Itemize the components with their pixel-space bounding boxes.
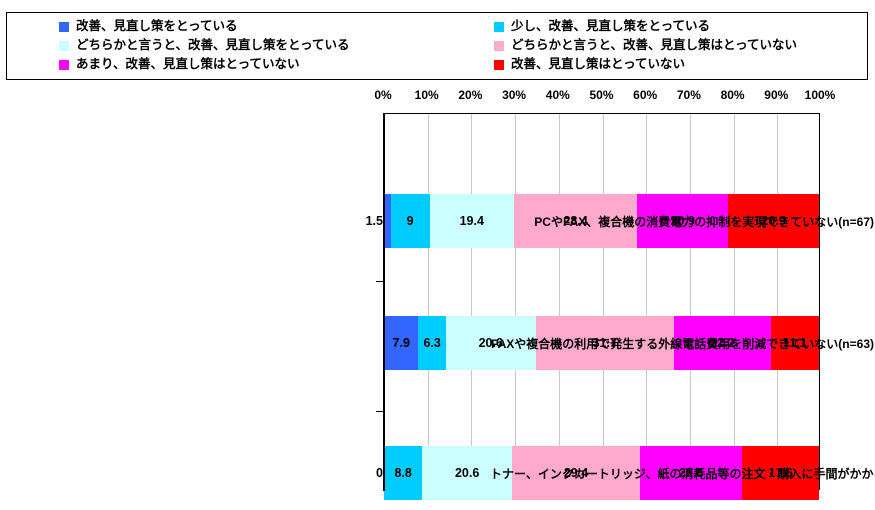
bar-segment-value: 0	[376, 467, 383, 480]
y-axis-line	[383, 113, 385, 491]
legend-label-not-taking: 改善、見直し策はとっていない	[511, 55, 685, 74]
category-label: トナー、インクカートリッジ、紙の消耗品等の注文・購入に手間がかかる(n=34)	[490, 465, 875, 482]
legend-column-left: 改善、見直し策をとっている どちらかと言うと、改善、見直し策をとっている あまり…	[59, 17, 479, 74]
x-axis-tick-10: 10%	[415, 88, 439, 102]
x-axis-tick-70: 70%	[677, 88, 701, 102]
legend-swatch-taking-icon	[59, 22, 69, 32]
bar-segment: 7.9	[384, 316, 418, 370]
legend-label-slightly-taking: 少し、改善、見直し策をとっている	[511, 17, 710, 36]
bar-segment-value: 9	[407, 215, 414, 228]
x-axis-tick-60: 60%	[633, 88, 657, 102]
x-axis-tick-50: 50%	[589, 88, 613, 102]
bar-segment: 9	[391, 194, 430, 248]
stacked-bar-chart: 0%10%20%30%40%50%60%70%80%90%100% 1.5919…	[0, 80, 875, 510]
legend-item-not-taking: 改善、見直し策はとっていない	[494, 55, 864, 74]
bar-segment-value: 1.5	[366, 215, 383, 228]
legend-swatch-not-much-icon	[59, 60, 69, 70]
x-axis-tick-100: 100%	[805, 88, 836, 102]
legend-item-somewhat-not-taking: どちらかと言うと、改善、見直し策はとっていない	[494, 36, 864, 55]
bar-segment: 6.3	[418, 316, 445, 370]
x-axis-tick-0: 0%	[374, 88, 391, 102]
x-axis-tick-20: 20%	[458, 88, 482, 102]
gridline-10	[428, 114, 429, 489]
bar-segment-value: 7.9	[393, 337, 410, 350]
bar-segment-value: 8.8	[394, 467, 411, 480]
x-axis-tick-90: 90%	[764, 88, 788, 102]
legend-swatch-somewhat-taking-icon	[59, 41, 69, 51]
gridline-50	[603, 114, 604, 489]
gridline-20	[471, 114, 472, 489]
gridline-60	[646, 114, 647, 489]
bar-segment-value: 19.4	[460, 215, 484, 228]
legend-label-not-much: あまり、改善、見直し策はとっていない	[76, 55, 300, 74]
category-label: PCやFAX、複合機の消費電力の抑制を実現できていない(n=67)	[490, 213, 875, 230]
gridline-30	[515, 114, 516, 489]
legend-swatch-not-taking-icon	[494, 60, 504, 70]
gridline-40	[559, 114, 560, 489]
bar-segment-value: 20.6	[455, 467, 479, 480]
x-axis-tick-80: 80%	[721, 88, 745, 102]
legend-item-taking: 改善、見直し策をとっている	[59, 17, 479, 36]
legend-item-somewhat-taking: どちらかと言うと、改善、見直し策をとっている	[59, 36, 479, 55]
legend-column-right: 少し、改善、見直し策をとっている どちらかと言うと、改善、見直し策はとっていない…	[494, 17, 864, 74]
category-label: FAXや複合機の利用で発生する外線電話費用を削減できていない(n=63)	[490, 335, 875, 352]
x-axis-tick-40: 40%	[546, 88, 570, 102]
gridline-80	[734, 114, 735, 489]
legend-item-not-much: あまり、改善、見直し策はとっていない	[59, 55, 479, 74]
plot-area: 1.5919.428.420.920.97.96.320.631.722.211…	[383, 113, 820, 490]
legend-label-somewhat-taking: どちらかと言うと、改善、見直し策をとっている	[76, 36, 350, 55]
bar-segment: 8.8	[384, 446, 422, 500]
legend-swatch-slightly-taking-icon	[494, 22, 504, 32]
legend-item-slightly-taking: 少し、改善、見直し策をとっている	[494, 17, 864, 36]
legend-label-somewhat-not-taking: どちらかと言うと、改善、見直し策はとっていない	[511, 36, 797, 55]
bar-segment-value: 6.3	[423, 337, 440, 350]
legend-label-taking: 改善、見直し策をとっている	[76, 17, 238, 36]
x-axis-tick-30: 30%	[502, 88, 526, 102]
gridline-90	[777, 114, 778, 489]
legend-swatch-somewhat-not-taking-icon	[494, 41, 504, 51]
gridline-70	[690, 114, 691, 489]
chart-legend: 改善、見直し策をとっている どちらかと言うと、改善、見直し策をとっている あまり…	[6, 12, 868, 80]
